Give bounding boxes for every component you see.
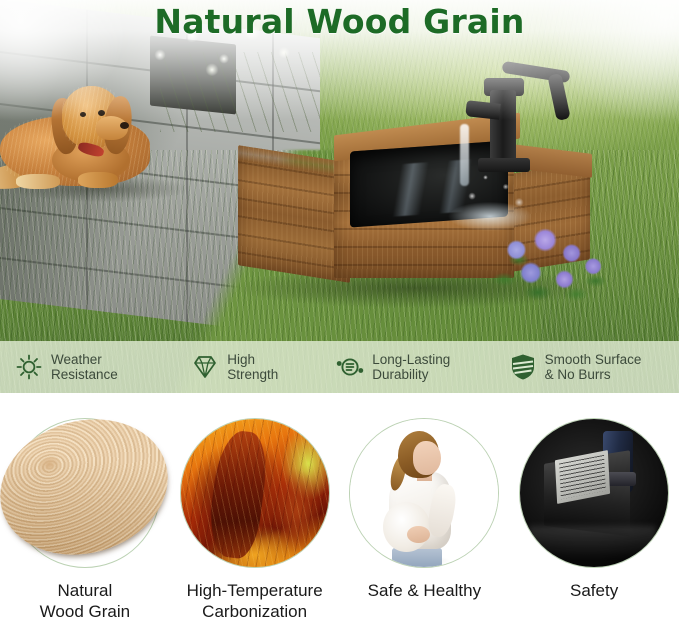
card-caption: Safe & Healthy xyxy=(368,580,481,601)
feature-label: Smooth Surface & No Burrs xyxy=(545,352,642,382)
card-caption: Natural Wood Grain xyxy=(40,580,130,622)
pregnant-woman-image xyxy=(350,419,498,567)
sun-icon xyxy=(14,352,44,382)
hydrangea-left xyxy=(490,222,610,304)
feature-label: Weather Resistance xyxy=(51,352,118,382)
feature-long-lasting-durability: Long-Lasting Durability xyxy=(335,341,507,393)
circle-frame xyxy=(519,418,669,568)
shield-icon xyxy=(508,352,538,382)
feature-high-strength: High Strength xyxy=(190,341,335,393)
card-caption: High-Temperature Carbonization xyxy=(187,580,323,622)
feature-label: High Strength xyxy=(227,352,278,382)
circle-frame xyxy=(180,418,330,568)
card-high-temperature-carbonization: High-Temperature Carbonization xyxy=(170,398,340,629)
product-infographic: Natural Wood Grain Weather Resistance xyxy=(0,0,679,629)
card-natural-wood-grain: Natural Wood Grain xyxy=(0,398,170,629)
durability-icon xyxy=(335,352,365,382)
page-title: Natural Wood Grain xyxy=(0,2,679,41)
hero-photo xyxy=(0,0,679,393)
feature-bar: Weather Resistance High Strength xyxy=(0,341,679,393)
card-safe-and-healthy: Safe & Healthy xyxy=(340,398,510,629)
circle-frame xyxy=(349,418,499,568)
diamond-icon xyxy=(190,352,220,382)
carbonization-image xyxy=(181,419,329,567)
feature-cards: Natural Wood Grain High-Temperature Carb… xyxy=(0,398,679,629)
feature-weather-resistance: Weather Resistance xyxy=(0,341,190,393)
card-caption: Safety xyxy=(570,580,618,601)
feature-label: Long-Lasting Durability xyxy=(372,352,450,382)
feature-smooth-surface: Smooth Surface & No Burrs xyxy=(508,341,679,393)
water-pump-image xyxy=(520,419,668,567)
wood-grain-image xyxy=(0,400,184,574)
card-safety: Safety xyxy=(509,398,679,629)
circle-frame xyxy=(10,418,160,568)
